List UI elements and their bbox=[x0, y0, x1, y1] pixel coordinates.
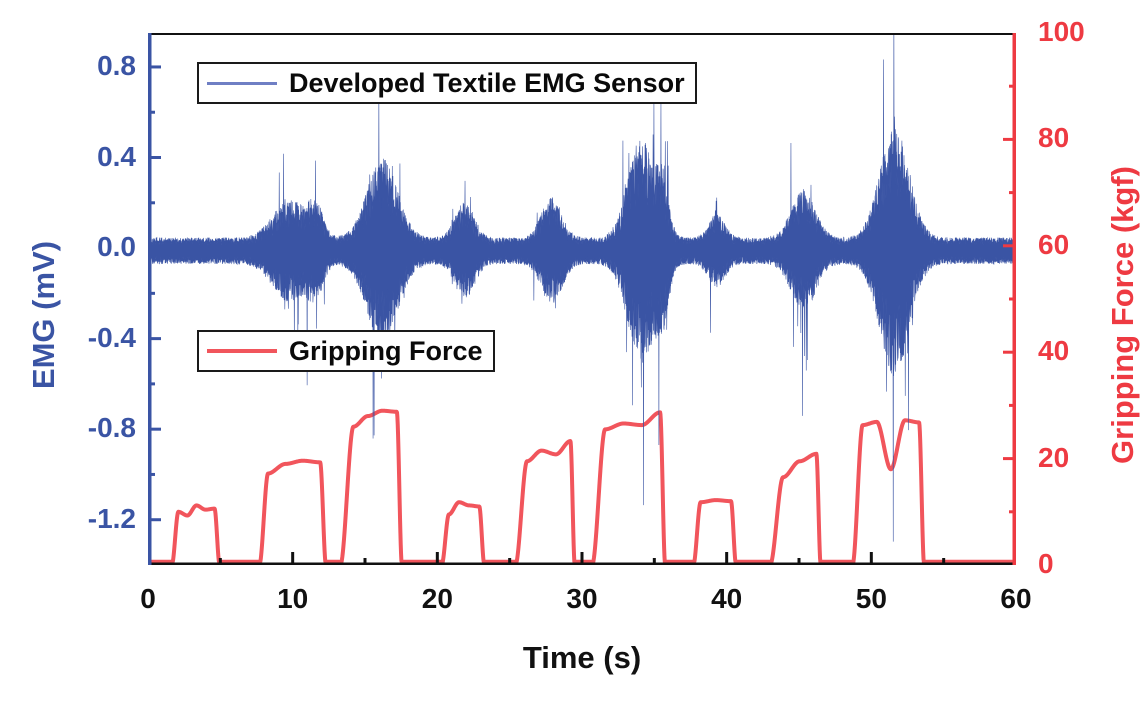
y-left-tick-1: 0.4 bbox=[40, 141, 136, 173]
legend-emg-label: Developed Textile EMG Sensor bbox=[289, 68, 685, 99]
y-right-tick-1: 20 bbox=[1038, 442, 1134, 474]
x-tick-4: 40 bbox=[682, 583, 772, 615]
y-left-tick-5: -1.2 bbox=[40, 503, 136, 535]
legend-emg-line-swatch bbox=[207, 82, 277, 85]
legend-force: Gripping Force bbox=[197, 330, 495, 372]
x-tick-1: 10 bbox=[248, 583, 338, 615]
chart-figure: EMG (mV) Gripping Force (kgf) Time (s) 0… bbox=[0, 0, 1145, 707]
legend-emg: Developed Textile EMG Sensor bbox=[197, 62, 697, 104]
legend-force-line-swatch bbox=[207, 349, 277, 353]
plot-area bbox=[148, 33, 1016, 565]
x-tick-2: 20 bbox=[392, 583, 482, 615]
y-right-tick-2: 40 bbox=[1038, 335, 1134, 367]
y-right-tick-0: 0 bbox=[1038, 548, 1134, 580]
y-left-tick-4: -0.8 bbox=[40, 412, 136, 444]
y-right-tick-3: 60 bbox=[1038, 229, 1134, 261]
x-tick-0: 0 bbox=[103, 583, 193, 615]
y-left-tick-0: 0.8 bbox=[40, 50, 136, 82]
y-right-tick-4: 80 bbox=[1038, 122, 1134, 154]
y-axis-right-title: Gripping Force (kgf) bbox=[1105, 155, 1141, 475]
y-left-tick-3: -0.4 bbox=[40, 322, 136, 354]
x-tick-3: 30 bbox=[537, 583, 627, 615]
x-tick-6: 60 bbox=[971, 583, 1061, 615]
legend-force-label: Gripping Force bbox=[289, 336, 483, 367]
x-tick-5: 50 bbox=[826, 583, 916, 615]
y-right-tick-5: 100 bbox=[1038, 16, 1134, 48]
x-axis-title: Time (s) bbox=[148, 640, 1016, 676]
y-left-tick-2: 0.0 bbox=[40, 231, 136, 263]
